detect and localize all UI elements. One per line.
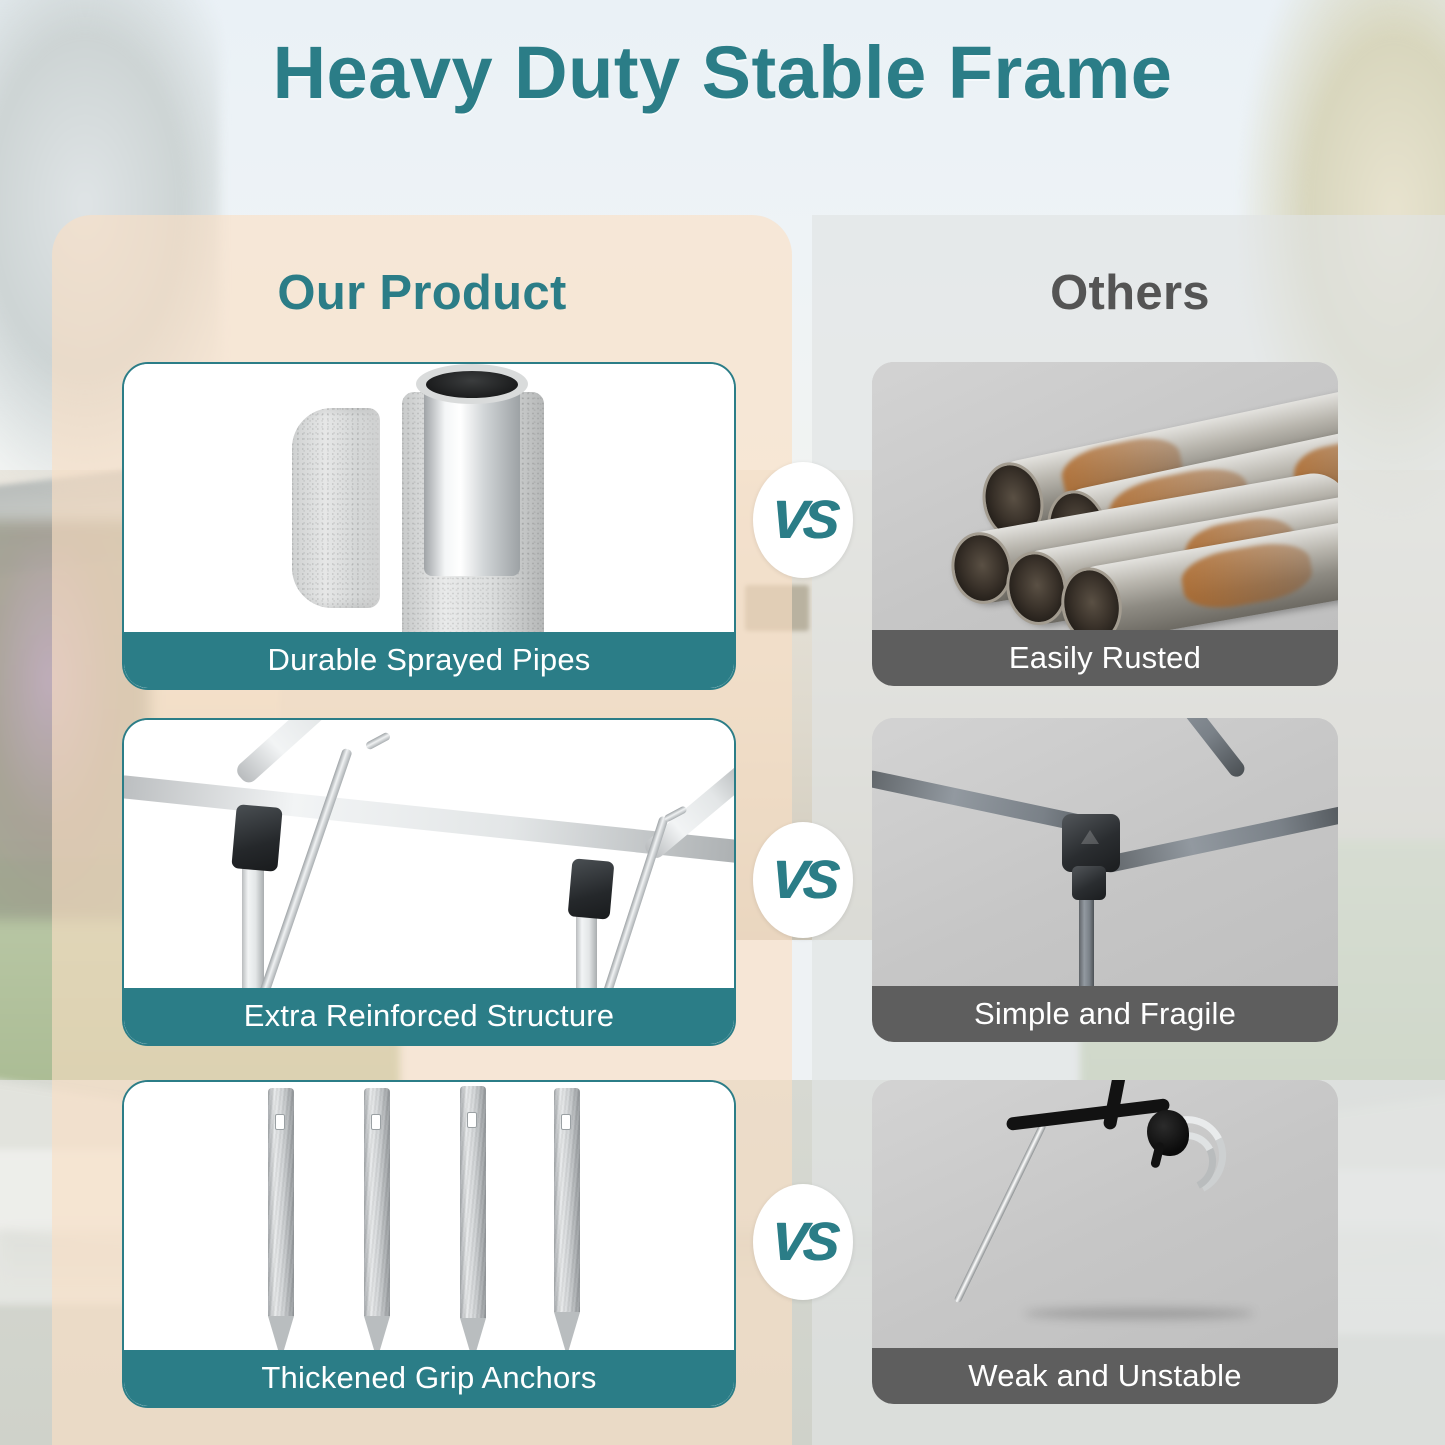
our-card-sprayed-pipes[interactable]: Durable Sprayed Pipes bbox=[122, 362, 736, 690]
anchor-stakes-illustration bbox=[124, 1082, 734, 1350]
others-caption-row2: Simple and Fragile bbox=[872, 986, 1338, 1042]
others-caption-row3: Weak and Unstable bbox=[872, 1348, 1338, 1404]
simple-joint-illustration bbox=[872, 718, 1338, 986]
our-card-grip-anchors[interactable]: Thickened Grip Anchors bbox=[122, 1080, 736, 1408]
stake-tip bbox=[554, 1312, 580, 1350]
rust-stain bbox=[1178, 537, 1316, 615]
our-caption-row1: Durable Sprayed Pipes bbox=[124, 632, 734, 688]
sprayed-pipe-illustration bbox=[124, 364, 734, 632]
stake-tip bbox=[460, 1318, 486, 1350]
frame-leg-right bbox=[576, 908, 597, 988]
stake-hole bbox=[275, 1114, 285, 1130]
others-caption-row1: Easily Rusted bbox=[872, 630, 1338, 686]
stake-hole bbox=[371, 1114, 381, 1130]
wire-hook-illustration bbox=[872, 1080, 1338, 1348]
our-card-reinforced-structure[interactable]: Extra Reinforced Structure bbox=[122, 718, 736, 1046]
hook-shadow bbox=[1024, 1308, 1254, 1319]
vs-label: VS bbox=[769, 849, 837, 911]
anchor-stake bbox=[554, 1088, 580, 1312]
stake-tip bbox=[364, 1316, 390, 1350]
others-heading: Others bbox=[812, 265, 1445, 321]
frame-diagonal-rafter-left bbox=[233, 720, 374, 786]
anchor-stake bbox=[364, 1088, 390, 1316]
frame-connector-left bbox=[231, 804, 282, 872]
rusted-pipes-illustration bbox=[872, 362, 1338, 630]
page-title: Heavy Duty Stable Frame bbox=[0, 30, 1445, 115]
vs-badge-row2: VS bbox=[753, 822, 853, 938]
our-product-heading: Our Product bbox=[52, 265, 792, 321]
gazebo-rafter bbox=[1130, 718, 1247, 780]
rope-strand-left bbox=[1006, 1098, 1170, 1131]
frame-horizontal-beam bbox=[124, 775, 734, 865]
gazebo-beam-right bbox=[1101, 803, 1338, 874]
brace-bracket-top-left bbox=[365, 731, 392, 750]
others-card-simple-joint[interactable]: Simple and Fragile bbox=[872, 718, 1338, 1042]
others-card-rusted-pipes[interactable]: Easily Rusted bbox=[872, 362, 1338, 686]
frame-connector-right bbox=[568, 858, 615, 919]
polished-steel-core bbox=[424, 376, 520, 576]
our-caption-row2: Extra Reinforced Structure bbox=[124, 988, 734, 1044]
vs-label: VS bbox=[769, 489, 837, 551]
vs-badge-row3: VS bbox=[753, 1184, 853, 1300]
infographic-canvas: Heavy Duty Stable Frame Our Product Othe… bbox=[0, 0, 1445, 1445]
vs-badge-row1: VS bbox=[753, 462, 853, 578]
stake-hole bbox=[467, 1112, 477, 1128]
reinforced-frame-illustration bbox=[124, 720, 734, 988]
stake-tip bbox=[268, 1316, 294, 1350]
pipe-bore bbox=[426, 371, 518, 398]
stake-hole bbox=[561, 1114, 571, 1130]
connector-triangle-mark bbox=[1081, 830, 1099, 844]
vs-label: VS bbox=[769, 1211, 837, 1273]
connector-collar bbox=[1072, 866, 1106, 900]
sprayed-coating-sleeve bbox=[292, 408, 380, 608]
anchor-stake bbox=[268, 1088, 294, 1316]
hook-shank bbox=[954, 1122, 1047, 1303]
frame-leg-left bbox=[242, 858, 264, 988]
others-card-weak-hook[interactable]: Weak and Unstable bbox=[872, 1080, 1338, 1404]
our-caption-row3: Thickened Grip Anchors bbox=[124, 1350, 734, 1406]
anchor-stake bbox=[460, 1086, 486, 1318]
